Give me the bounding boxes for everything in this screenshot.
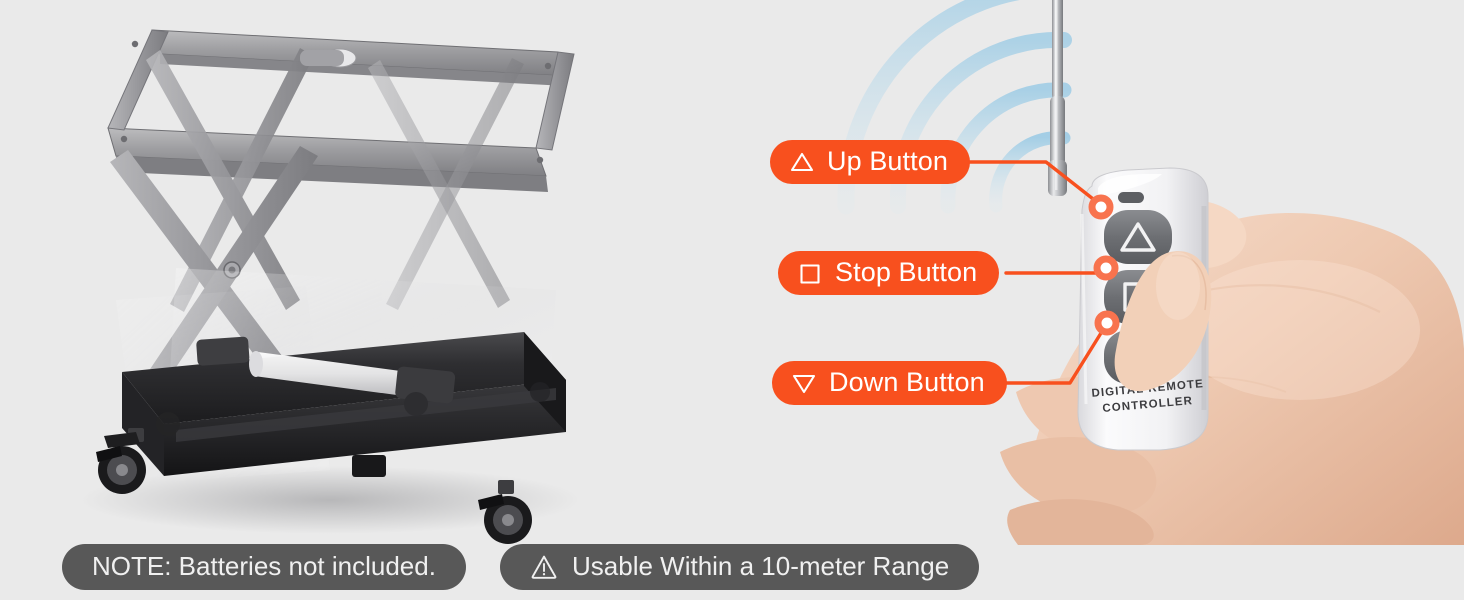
- callout-up-button[interactable]: Up Button: [770, 140, 970, 184]
- infographic-canvas: DIGITAL REMOTE CONTROLLER: [0, 0, 1464, 600]
- note-usable-range: Usable Within a 10-meter Range: [500, 544, 979, 590]
- callout-down-button[interactable]: Down Button: [772, 361, 1007, 405]
- triangle-up-outline-icon: [790, 150, 814, 174]
- caster-front-left: [96, 428, 146, 494]
- warning-triangle-icon: [530, 553, 558, 581]
- callout-up-label: Up Button: [827, 148, 948, 175]
- hand-holding-remote: [1000, 199, 1464, 545]
- triangle-down-outline-icon: [792, 371, 816, 395]
- caster-rear-left: [156, 412, 180, 436]
- callout-stop-label: Stop Button: [835, 259, 977, 286]
- note-battery-label: NOTE: Batteries not included.: [92, 553, 436, 579]
- caster-rear-right: [530, 382, 550, 402]
- signal-waves-icon: [846, 0, 1064, 225]
- square-outline-icon: [798, 261, 822, 285]
- scissor-lift-illustration: [0, 0, 700, 545]
- callout-down-label: Down Button: [829, 369, 985, 396]
- note-range-label: Usable Within a 10-meter Range: [572, 553, 949, 579]
- bottom-note-row: NOTE: Batteries not included. Usable Wit…: [0, 544, 1464, 596]
- led-icon: [1118, 192, 1144, 203]
- control-box: [352, 455, 386, 477]
- note-batteries-not-included: NOTE: Batteries not included.: [62, 544, 466, 590]
- product-image-scissor-lift: [0, 0, 700, 545]
- callout-stop-button[interactable]: Stop Button: [778, 251, 999, 295]
- antenna-icon: [1048, 0, 1067, 196]
